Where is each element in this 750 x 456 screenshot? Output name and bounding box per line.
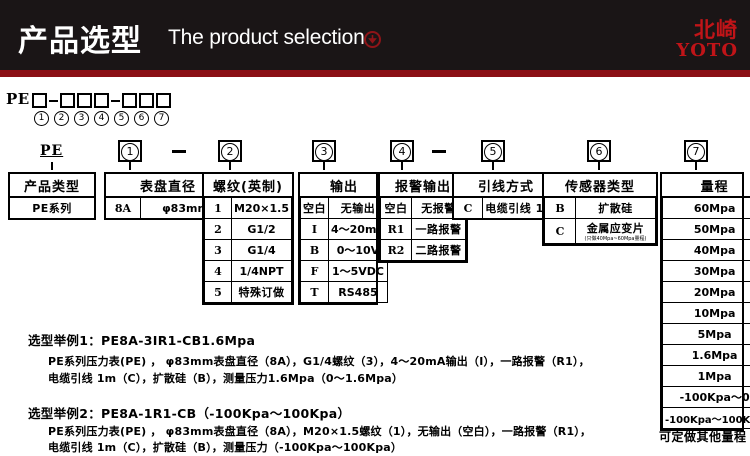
example-2-line-2: 电缆引线 1m（C），扩散硅（B），测量压力（-100Kpa～100Kpa） bbox=[48, 440, 402, 456]
row-code: 空白 bbox=[301, 197, 329, 219]
table-row: 10Mpa bbox=[663, 303, 750, 324]
row-code: F bbox=[301, 261, 329, 282]
table-row: -100Kpa～0 bbox=[663, 387, 750, 408]
row-value: -100Kpa～100Kpa bbox=[663, 408, 750, 429]
page-title-en: The product selection bbox=[168, 26, 365, 50]
example-1-line-2: 电缆引线 1m（C），扩散硅（B），测量压力1.6Mpa（0～1.6Mpa） bbox=[48, 371, 403, 387]
tag-1: 1 bbox=[118, 140, 142, 162]
code-number-5: 5 bbox=[112, 109, 131, 124]
brand-logo-en: YOTO bbox=[676, 40, 738, 61]
table-row: TRS485 bbox=[301, 282, 388, 303]
row-value-note: (只做40Mpa~60Mpa量程) bbox=[578, 236, 653, 242]
column-output: 输出 空白无输出 I4～20mA B0～10V F1～5VDC TRS485 bbox=[298, 172, 378, 305]
table-row: 1Mpa bbox=[663, 366, 750, 387]
page-title-cn: 产品选型 bbox=[18, 16, 142, 60]
table-row: PE系列 bbox=[10, 197, 94, 218]
table-row: 5Mpa bbox=[663, 324, 750, 345]
table-row: F1～5VDC bbox=[301, 261, 388, 282]
row-code: I bbox=[301, 219, 329, 240]
row-value: 金属应变片 (只做40Mpa~60Mpa量程) bbox=[576, 219, 656, 244]
column-header: 螺纹(英制) bbox=[205, 174, 292, 197]
row-code: 5 bbox=[205, 282, 232, 303]
row-value: 1Mpa bbox=[663, 366, 750, 387]
tag-dash-2 bbox=[432, 150, 446, 153]
tag-7: 7 bbox=[684, 140, 708, 162]
row-code: C bbox=[454, 197, 483, 218]
table-row: 5特殊订做 bbox=[205, 282, 292, 303]
table-row: 50Mpa bbox=[663, 219, 750, 240]
code-dash-2 bbox=[111, 100, 120, 102]
row-value: 60Mpa bbox=[663, 197, 750, 219]
table-row: 20Mpa bbox=[663, 282, 750, 303]
range-note: 可定做其他量程 bbox=[659, 428, 747, 445]
example-1-title: 选型举例1：PE8A-3IR1-CB1.6Mpa bbox=[28, 330, 255, 349]
circled-down-arrow-icon bbox=[364, 31, 381, 48]
row-value: 40Mpa bbox=[663, 240, 750, 261]
tag-dash-1 bbox=[172, 150, 186, 153]
row-code: B bbox=[545, 197, 576, 219]
code-box-1 bbox=[32, 93, 47, 108]
row-value: 1～5VDC bbox=[329, 261, 388, 282]
row-code: 8A bbox=[106, 197, 141, 218]
table-row: R2二路报警 bbox=[381, 240, 466, 261]
tag-3: 3 bbox=[312, 140, 336, 162]
row-value: RS485 bbox=[329, 282, 388, 303]
code-dash-1 bbox=[49, 100, 58, 102]
row-code: R1 bbox=[381, 219, 412, 240]
code-number-7: 7 bbox=[152, 109, 171, 124]
code-box-5 bbox=[122, 93, 137, 108]
table-row: B0～10V bbox=[301, 240, 388, 261]
model-code-line: PE 1 2 3 4 5 6 7 bbox=[6, 86, 172, 124]
row-code: 空白 bbox=[381, 197, 412, 219]
page-header: 产品选型 The product selection 北崎 YOTO bbox=[0, 0, 750, 70]
row-code: T bbox=[301, 282, 329, 303]
row-value: 1/4NPT bbox=[232, 261, 292, 282]
tag-6: 6 bbox=[587, 140, 611, 162]
table-row: 1.6Mpa bbox=[663, 345, 750, 366]
code-number-1: 1 bbox=[32, 109, 51, 124]
row-value-text: 金属应变片 bbox=[587, 222, 645, 235]
row-value: 30Mpa bbox=[663, 261, 750, 282]
tag-pe: PE bbox=[40, 143, 63, 159]
table-row: 空白无输出 bbox=[301, 197, 388, 219]
column-header: 传感器类型 bbox=[545, 174, 656, 197]
column-sensor-type: 传感器类型 B 扩散硅 C 金属应变片 (只做40Mpa~60Mpa量程) bbox=[542, 172, 658, 246]
code-box-2 bbox=[60, 93, 75, 108]
code-number-3: 3 bbox=[72, 109, 91, 124]
row-value: 50Mpa bbox=[663, 219, 750, 240]
row-value: M20×1.5 bbox=[232, 197, 292, 219]
row-code: R2 bbox=[381, 240, 412, 261]
code-number-4: 4 bbox=[92, 109, 111, 124]
row-value: 20Mpa bbox=[663, 282, 750, 303]
code-box-3 bbox=[77, 93, 92, 108]
row-value: 特殊订做 bbox=[232, 282, 292, 303]
table-row: 30Mpa bbox=[663, 261, 750, 282]
tag-4: 4 bbox=[390, 140, 414, 162]
table-row: 1M20×1.5 bbox=[205, 197, 292, 219]
table-row: 60Mpa bbox=[663, 197, 750, 219]
column-header: 产品类型 bbox=[10, 174, 94, 197]
example-2-line-1: PE系列压力表(PE) ， φ83mm表盘直径（8A），M20×1.5螺纹（1）… bbox=[48, 424, 591, 440]
table-row: 2G1/2 bbox=[205, 219, 292, 240]
column-header: 输出 bbox=[301, 174, 388, 197]
row-value: G1/4 bbox=[232, 240, 292, 261]
row-value: G1/2 bbox=[232, 219, 292, 240]
row-value: 一路报警 bbox=[412, 219, 466, 240]
row-value: 二路报警 bbox=[412, 240, 466, 261]
table-row: I4～20mA bbox=[301, 219, 388, 240]
code-box-6 bbox=[139, 93, 154, 108]
column-range: 量程 60Mpa 50Mpa 40Mpa 30Mpa 20Mpa 10Mpa 5… bbox=[660, 172, 744, 431]
row-value: 10Mpa bbox=[663, 303, 750, 324]
table-row: R1一路报警 bbox=[381, 219, 466, 240]
table-row: 40Mpa bbox=[663, 240, 750, 261]
table-row: 41/4NPT bbox=[205, 261, 292, 282]
code-number-row: 1 2 3 4 5 6 7 bbox=[32, 109, 172, 124]
header-accent-bar bbox=[0, 70, 750, 77]
row-code: C bbox=[545, 219, 576, 244]
table-row: 3G1/4 bbox=[205, 240, 292, 261]
model-code-prefix: PE bbox=[6, 90, 30, 108]
row-code: 1 bbox=[205, 197, 232, 219]
row-value: 扩散硅 bbox=[576, 197, 656, 219]
row-code: 3 bbox=[205, 240, 232, 261]
code-box-4 bbox=[94, 93, 109, 108]
tag-2: 2 bbox=[218, 140, 242, 162]
column-header: 量程 bbox=[663, 174, 750, 197]
code-number-6: 6 bbox=[132, 109, 151, 124]
table-row: C 金属应变片 (只做40Mpa~60Mpa量程) bbox=[545, 219, 656, 244]
code-number-2: 2 bbox=[52, 109, 71, 124]
tag-5: 5 bbox=[481, 140, 505, 162]
row-value: 1.6Mpa bbox=[663, 345, 750, 366]
code-box-7 bbox=[156, 93, 171, 108]
table-row: B 扩散硅 bbox=[545, 197, 656, 219]
row-code: 4 bbox=[205, 261, 232, 282]
example-2-title: 选型举例2：PE8A-1R1-CB（-100Kpa～100Kpa） bbox=[28, 403, 350, 422]
column-tag-row: PE 1 2 3 4 5 6 7 bbox=[0, 140, 750, 170]
column-product-type: 产品类型 PE系列 bbox=[8, 172, 96, 220]
column-thread: 螺纹(英制) 1M20×1.5 2G1/2 3G1/4 41/4NPT 5特殊订… bbox=[202, 172, 294, 305]
table-row: -100Kpa～100Kpa bbox=[663, 408, 750, 429]
example-1-line-1: PE系列压力表(PE) ， φ83mm表盘直径（8A），G1/4螺纹（3），4～… bbox=[48, 354, 590, 370]
row-code: B bbox=[301, 240, 329, 261]
row-code: 2 bbox=[205, 219, 232, 240]
row-value: 5Mpa bbox=[663, 324, 750, 345]
row-value: -100Kpa～0 bbox=[663, 387, 750, 408]
